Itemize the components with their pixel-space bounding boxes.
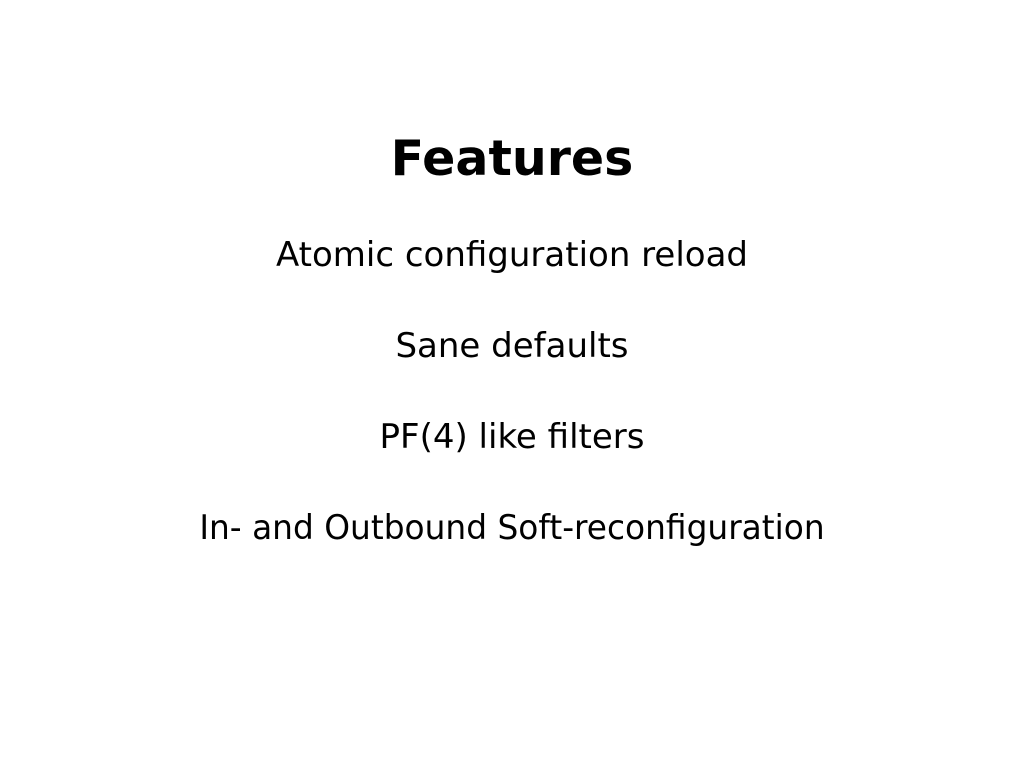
- presentation-slide: Features Atomic configuration reload San…: [0, 0, 1024, 768]
- list-item: Atomic configuration reload: [0, 210, 1024, 301]
- bullet-list: Atomic configuration reload Sane default…: [0, 210, 1024, 574]
- list-item: PF(4) like filters: [0, 392, 1024, 483]
- list-item: Sane defaults: [0, 301, 1024, 392]
- page-title: Features: [0, 33, 1024, 183]
- list-item: In- and Outbound Soft-reconfiguration: [18, 483, 1006, 574]
